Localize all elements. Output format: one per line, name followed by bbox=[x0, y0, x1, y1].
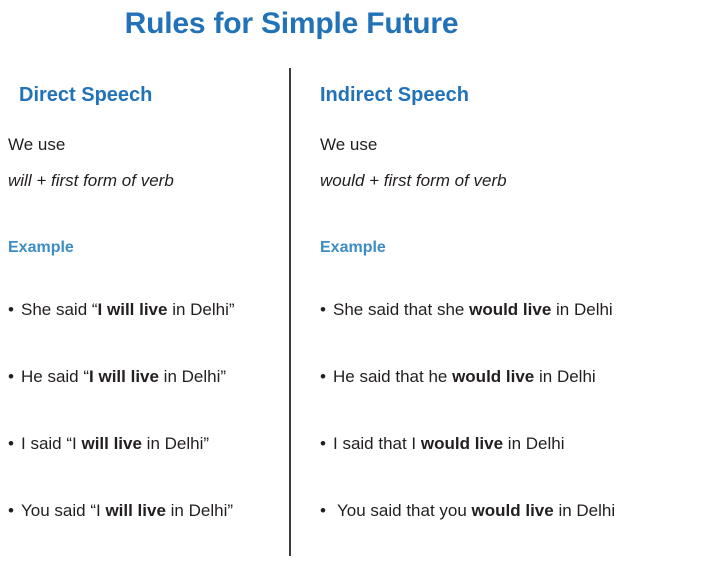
column-heading-indirect-speech: Indirect Speech bbox=[320, 82, 469, 108]
example-label-indirect: Example bbox=[320, 238, 386, 258]
list-item-text: You said “I will live in Delhi” bbox=[21, 501, 233, 520]
rule-formula-indirect: would + first form of verb bbox=[320, 172, 507, 189]
column-divider bbox=[289, 68, 291, 556]
list-item-text: She said “I will live in Delhi” bbox=[21, 300, 235, 319]
rule-formula-direct: will + first form of verb bbox=[8, 172, 174, 189]
list-item-text: I said “I will live in Delhi” bbox=[21, 434, 209, 453]
list-item-text: He said that he would live in Delhi bbox=[333, 367, 596, 386]
example-list-indirect: •She said that she would live in Delhi •… bbox=[320, 300, 615, 568]
bullet-icon: • bbox=[320, 300, 333, 320]
list-item: •You said that you would live in Delhi bbox=[320, 501, 615, 568]
list-item: •He said that he would live in Delhi bbox=[320, 367, 615, 434]
list-item-text: She said that she would live in Delhi bbox=[333, 300, 613, 319]
list-item: •You said “I will live in Delhi” bbox=[8, 501, 235, 568]
bullet-icon: • bbox=[8, 300, 21, 320]
column-heading-direct-speech: Direct Speech bbox=[19, 82, 152, 108]
column-indirect-speech: Indirect Speech We use would + first for… bbox=[320, 0, 712, 561]
bullet-icon: • bbox=[8, 501, 21, 521]
list-item: •He said “I will live in Delhi” bbox=[8, 367, 235, 434]
list-item: •She said that she would live in Delhi bbox=[320, 300, 615, 367]
list-item: •She said “I will live in Delhi” bbox=[8, 300, 235, 367]
list-item-text: I said that I would live in Delhi bbox=[333, 434, 565, 453]
rule-intro-indirect: We use bbox=[320, 136, 377, 153]
bullet-icon: • bbox=[320, 434, 333, 454]
list-item-text: He said “I will live in Delhi” bbox=[21, 367, 226, 386]
list-item-text: You said that you would live in Delhi bbox=[337, 501, 615, 520]
slide-root: Rules for Simple Future Direct Speech We… bbox=[0, 0, 720, 561]
bullet-icon: • bbox=[8, 367, 21, 387]
example-label-direct: Example bbox=[8, 238, 74, 258]
list-item: •I said “I will live in Delhi” bbox=[8, 434, 235, 501]
bullet-icon: • bbox=[8, 434, 21, 454]
bullet-icon: • bbox=[320, 501, 337, 521]
rule-intro-direct: We use bbox=[8, 136, 65, 153]
column-direct-speech: Direct Speech We use will + first form o… bbox=[8, 0, 286, 561]
list-item: •I said that I would live in Delhi bbox=[320, 434, 615, 501]
bullet-icon: • bbox=[320, 367, 333, 387]
example-list-direct: •She said “I will live in Delhi” •He sai… bbox=[8, 300, 235, 568]
